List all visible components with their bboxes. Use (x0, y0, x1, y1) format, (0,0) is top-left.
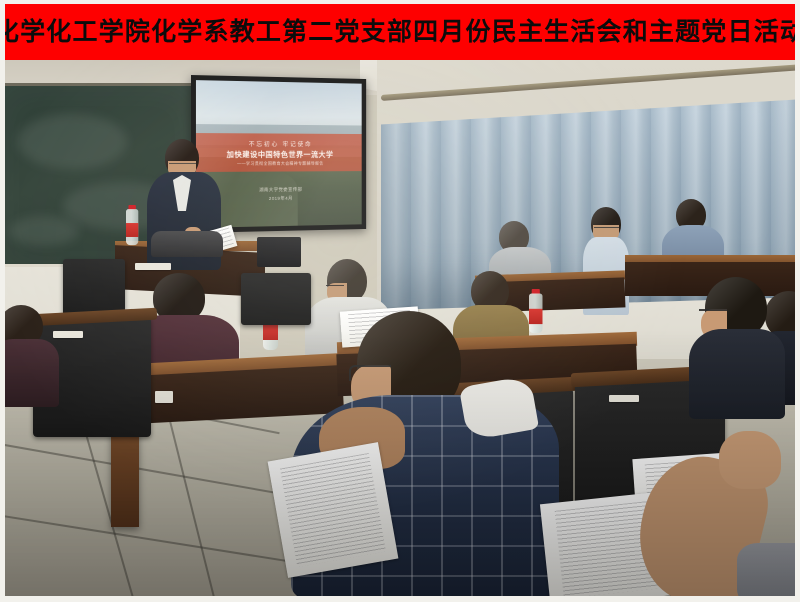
slide-line-1: 不忘初心 牢记使命 (249, 139, 313, 148)
attendee-sleeve (737, 543, 795, 596)
event-banner: 化学化工学院化学系教工第二党支部四月份民主生活会和主题党日活动 (5, 4, 795, 60)
seat-number-label (609, 395, 639, 402)
glasses-icon (349, 365, 391, 381)
printed-document (268, 442, 399, 578)
meeting-photograph: 化学化工学院化学系教工第二党支部四月份民主生活会和主题党日活动 (5, 4, 795, 596)
seat-number-label (135, 263, 171, 270)
event-banner-title: 化学化工学院化学系教工第二党支部四月份民主生活会和主题党日活动 (5, 20, 795, 45)
auditorium-seat (63, 259, 125, 317)
slide-line-2: 加快建设中国特色世界一流大学 (227, 149, 334, 160)
glasses-icon (699, 309, 727, 321)
screenshot-root: 化学化工学院化学系教工第二党支部四月份民主生活会和主题党日活动 (0, 0, 800, 602)
attendee-grey-sleeve (641, 431, 795, 596)
classroom-scene: 不忘初心 牢记使命 加快建设中国特色世界一流大学 ——学习贯彻全国教育大会精神专… (5, 59, 795, 596)
glasses-icon (594, 227, 619, 233)
attendee-head (591, 207, 621, 241)
bag (151, 231, 223, 257)
seat-number-label (155, 391, 173, 403)
attendee-left-edge (5, 305, 59, 401)
glasses-icon (326, 285, 344, 291)
equipment-monitor (257, 237, 301, 267)
slide-line-3: ——学习贯彻全国教育大会精神专题辅导报告 (237, 160, 323, 166)
photo-frame: 化学化工学院化学系教工第二党支部四月份民主生活会和主题党日活动 (0, 0, 800, 602)
attendee-hand (719, 431, 781, 489)
attendee-right-dark (689, 277, 785, 417)
glasses-icon (169, 163, 196, 169)
